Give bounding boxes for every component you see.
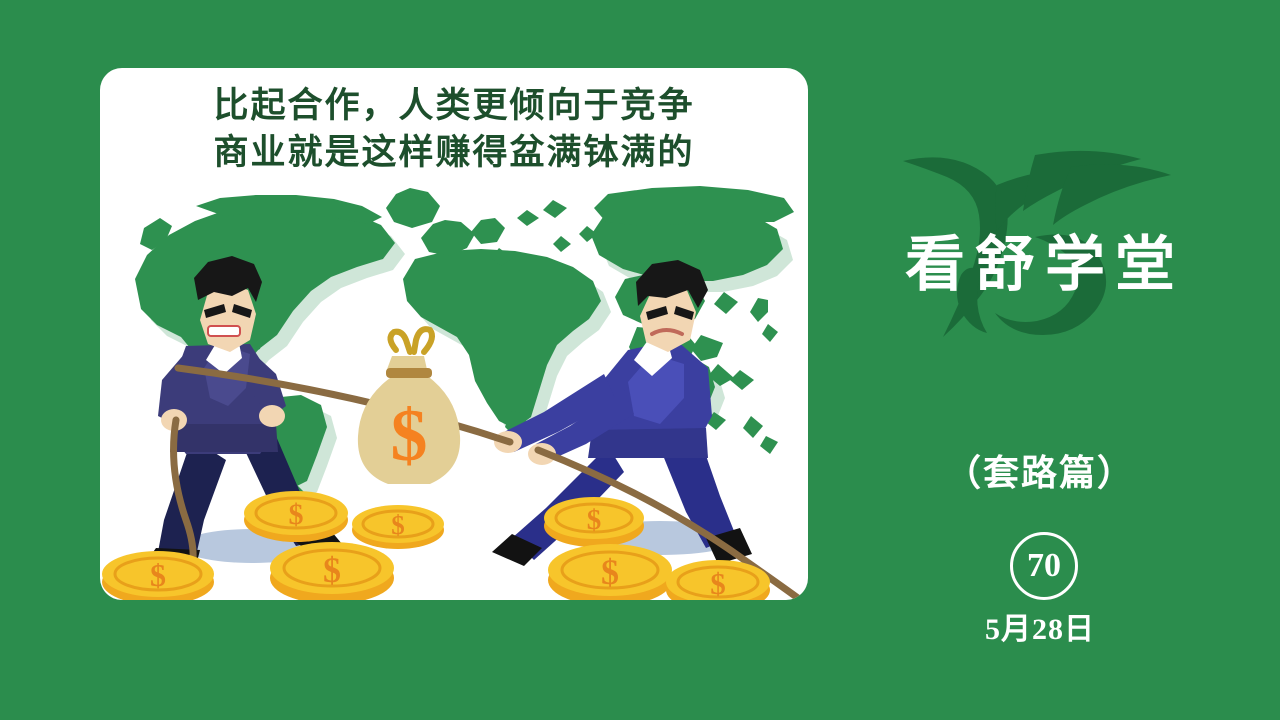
- coin: $: [270, 542, 394, 600]
- date-label: 5月28日: [830, 615, 1250, 645]
- episode-number-badge: 70: [1010, 532, 1078, 600]
- svg-text:$: $: [710, 566, 726, 600]
- brand-title: 看舒学堂: [830, 235, 1250, 295]
- illustration-card: 比起合作，人类更倾向于竞争 商业就是这样赚得盆满钵满的: [100, 68, 808, 600]
- coin: $: [352, 505, 444, 549]
- coin: $: [548, 544, 672, 600]
- illustration-card-inner: 比起合作，人类更倾向于竞争 商业就是这样赚得盆满钵满的: [100, 68, 808, 600]
- svg-text:$: $: [587, 504, 602, 536]
- coin: $: [102, 551, 214, 600]
- svg-text:$: $: [150, 557, 166, 593]
- money-bag: $: [358, 329, 460, 484]
- svg-text:$: $: [601, 552, 619, 592]
- series-label: （套路篇）: [830, 455, 1250, 491]
- coin: $: [544, 497, 644, 547]
- svg-text:$: $: [289, 498, 304, 531]
- coin: $: [244, 491, 348, 542]
- brand-panel: 看舒学堂 （套路篇） 70 5月28日: [830, 60, 1250, 660]
- page-title: 比起合作，人类更倾向于竞争 商业就是这样赚得盆满钵满的: [100, 82, 808, 176]
- poster-canvas: 比起合作，人类更倾向于竞争 商业就是这样赚得盆满钵满的: [0, 0, 1280, 720]
- svg-text:$: $: [323, 550, 341, 590]
- svg-text:$: $: [391, 395, 428, 477]
- svg-text:$: $: [391, 510, 405, 540]
